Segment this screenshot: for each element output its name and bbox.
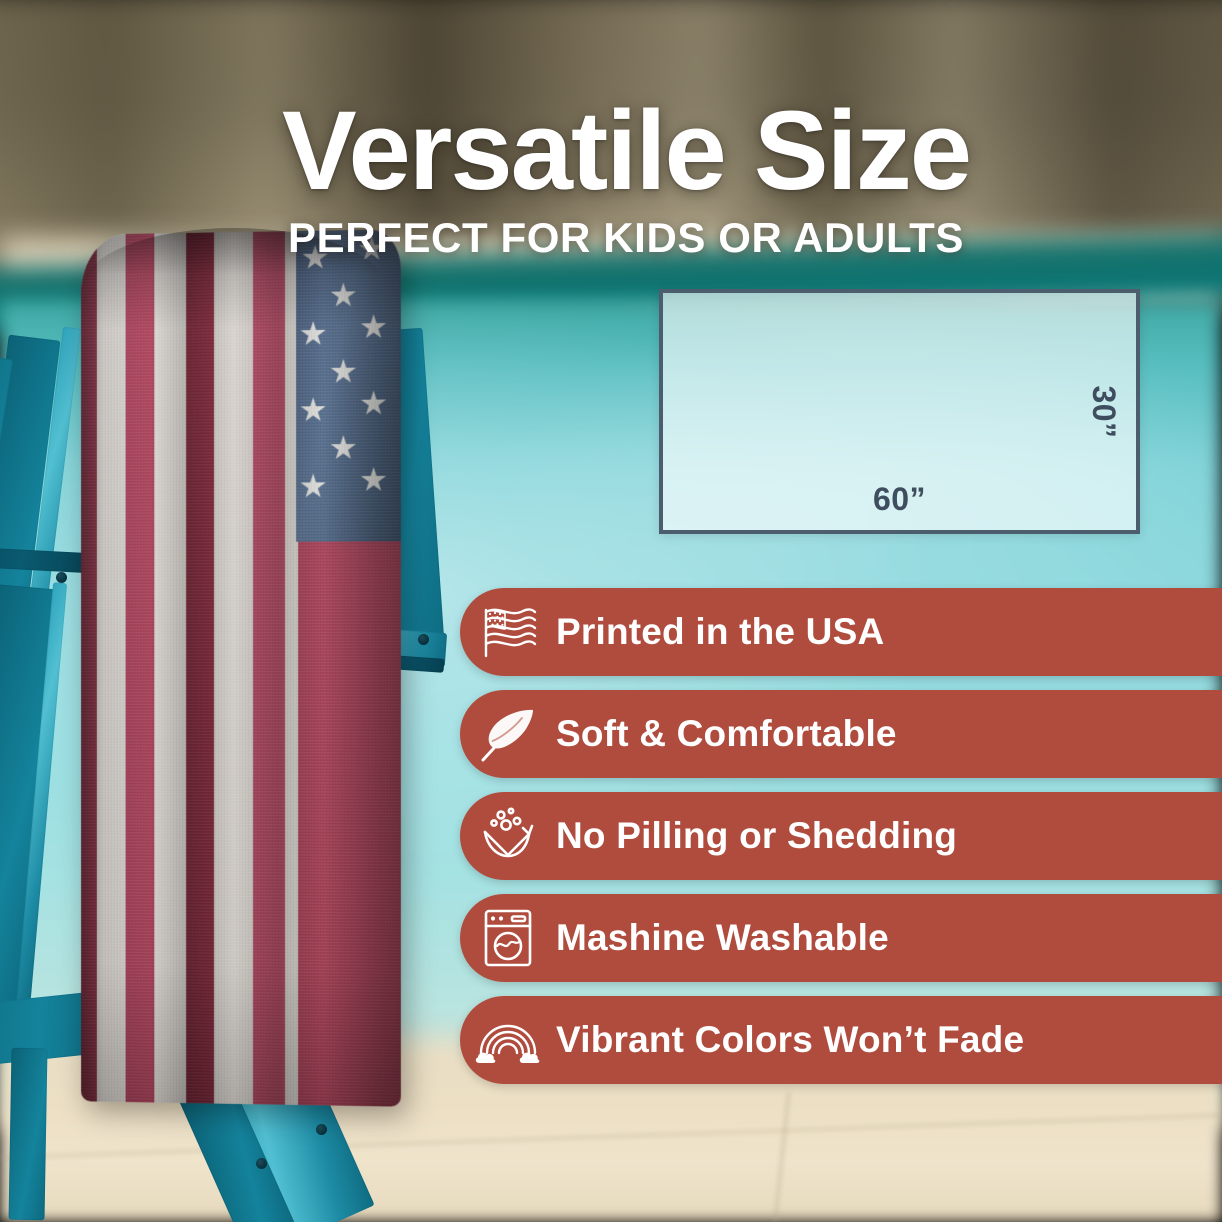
no-pilling-icon — [460, 806, 556, 866]
flag-beach-towel — [81, 229, 401, 1106]
feature-pill-soft-comfortable[interactable]: Soft & Comfortable — [460, 690, 1222, 778]
feature-label: Soft & Comfortable — [556, 713, 897, 755]
feature-list: Printed in the USA Soft & Comfortable — [460, 588, 1222, 1098]
feature-pill-no-pilling[interactable]: No Pilling or Shedding — [460, 792, 1222, 880]
width-dimension-label: 60” — [663, 481, 1136, 518]
feature-label: Vibrant Colors Won’t Fade — [556, 1019, 1024, 1061]
feature-label: Mashine Washable — [556, 917, 889, 959]
feature-pill-printed-in-the-usa[interactable]: Printed in the USA — [460, 588, 1222, 676]
feature-label: Printed in the USA — [556, 611, 884, 653]
feather-icon — [460, 705, 556, 763]
rainbow-cloud-icon — [460, 1015, 556, 1065]
feature-pill-machine-washable[interactable]: Mashine Washable — [460, 894, 1222, 982]
chair-bolt — [56, 572, 67, 583]
towel-fold-shading — [81, 229, 401, 1106]
header: Versatile Size PERFECT FOR KIDS OR ADULT… — [0, 0, 1222, 262]
usa-flag-icon — [460, 604, 556, 660]
feature-pill-vibrant-colors[interactable]: Vibrant Colors Won’t Fade — [460, 996, 1222, 1084]
feature-label: No Pilling or Shedding — [556, 815, 957, 857]
page-subtitle: PERFECT FOR KIDS OR ADULTS — [0, 214, 1222, 262]
chair-bolt — [256, 1158, 267, 1169]
height-dimension-label: 30” — [1085, 385, 1122, 438]
washing-machine-icon — [460, 907, 556, 969]
chair-bolt — [316, 1124, 327, 1135]
size-diagram: 60” 30” — [659, 289, 1140, 534]
chair-front-leg — [9, 1048, 48, 1221]
product-feature-graphic: Versatile Size PERFECT FOR KIDS OR ADULT… — [0, 0, 1222, 1222]
page-title: Versatile Size — [0, 96, 1222, 206]
chair-bolt — [418, 634, 429, 645]
